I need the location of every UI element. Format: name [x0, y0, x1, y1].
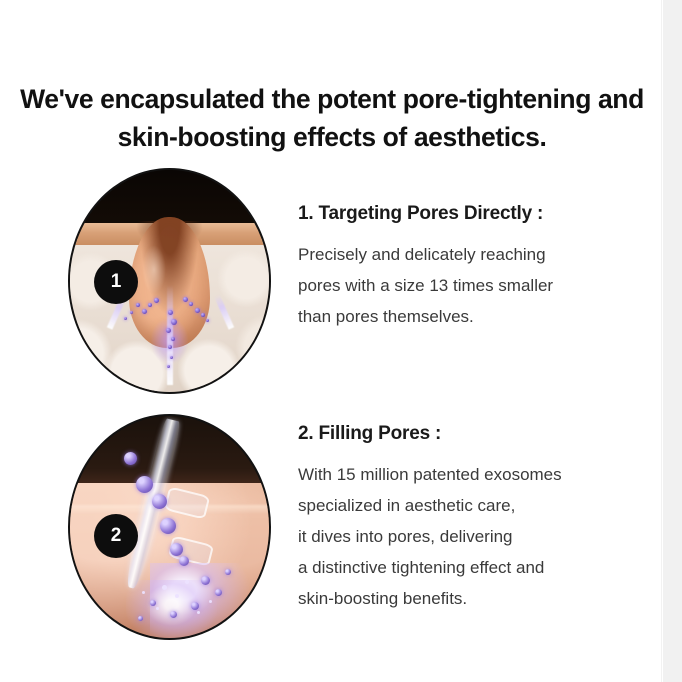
- step-1-text: 1. Targeting Pores Directly : Precisely …: [298, 202, 648, 332]
- step-1-body-line-2: pores with a size 13 times smaller: [298, 270, 648, 301]
- content-column: We've encapsulated the potent pore-tight…: [0, 0, 661, 682]
- step-2-body-line-4: a distinctive tightening effect and: [298, 552, 648, 583]
- step-1-image-wrap: 1: [68, 168, 271, 394]
- step-2-body-line-3: it dives into pores, delivering: [298, 521, 648, 552]
- step-2-body-line-5: skin-boosting benefits.: [298, 583, 648, 614]
- headline-line-2: skin-boosting effects of aesthetics.: [18, 118, 646, 156]
- page-headline: We've encapsulated the potent pore-tight…: [18, 80, 646, 156]
- step-2-title: 2. Filling Pores :: [298, 422, 648, 446]
- headline-line-1: We've encapsulated the potent pore-tight…: [20, 84, 644, 114]
- content-edge-divider: [661, 0, 662, 682]
- step-1-title: 1. Targeting Pores Directly :: [298, 202, 648, 226]
- page-root: We've encapsulated the potent pore-tight…: [0, 0, 682, 682]
- step-2-body: With 15 million patented exosomes specia…: [298, 459, 648, 614]
- step-badge-1: 1: [94, 260, 138, 304]
- step-2-body-line-1: With 15 million patented exosomes: [298, 459, 648, 490]
- step-1-body-line-1: Precisely and delicately reaching: [298, 239, 648, 270]
- step-1-body-line-3: than pores themselves.: [298, 301, 648, 332]
- step-2-image-wrap: 2: [68, 414, 271, 640]
- step-block-2: 2 2. Filling Pores : With 15 million pat…: [0, 414, 661, 644]
- step-2-body-line-2: specialized in aesthetic care,: [298, 490, 648, 521]
- step-2-text: 2. Filling Pores : With 15 million paten…: [298, 422, 648, 614]
- step-badge-2: 2: [94, 514, 138, 558]
- step-1-body: Precisely and delicately reaching pores …: [298, 239, 648, 332]
- vertical-scrollbar[interactable]: [663, 0, 682, 682]
- step-block-1: 1 1. Targeting Pores Directly : Precisel…: [0, 168, 661, 398]
